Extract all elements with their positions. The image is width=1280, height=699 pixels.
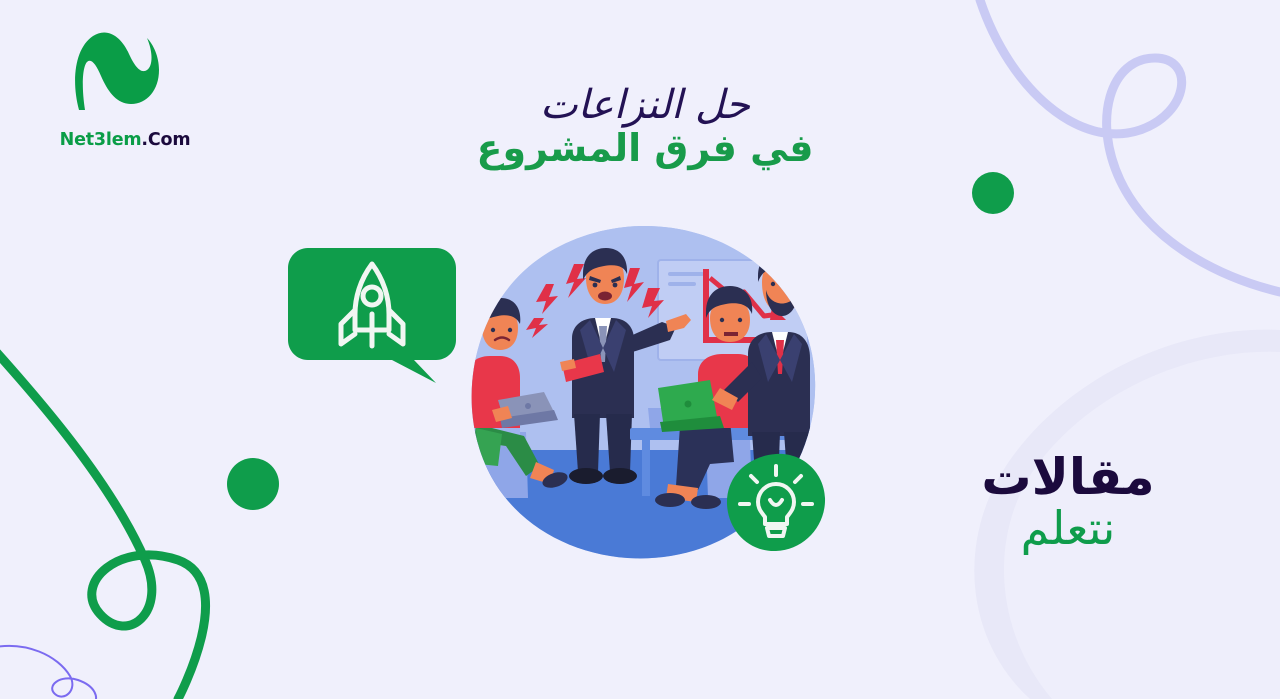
violet-thin-loop-bottom-left [0, 646, 96, 699]
whiteboard-line [668, 272, 704, 276]
headline-script-line: حل النزاعات [420, 84, 870, 126]
headline-block: حل النزاعات في فرق المشروع [420, 84, 870, 170]
green-dot-right [972, 172, 1014, 214]
lavender-loop-curve-top-right [980, 0, 1280, 292]
letter-n-swoosh-logo-icon [63, 22, 173, 114]
right-label-top: مقالات [918, 452, 1218, 502]
logo-wordmark: Net3lem.Com [45, 130, 205, 150]
logo-name-green: Net3lem [60, 130, 142, 150]
lightbulb-badge[interactable] [726, 452, 826, 552]
whiteboard-line [774, 272, 804, 276]
rocket-speech-bubble-badge[interactable] [288, 248, 456, 383]
green-dot-left [227, 458, 279, 510]
logo-name-dark: .Com [141, 130, 190, 150]
green-loop-curve-bottom-left [0, 345, 206, 699]
banner-canvas: Net3lem.Com حل النزاعات في فرق المشروع [0, 0, 1280, 699]
whiteboard-line [668, 282, 696, 286]
headline-sub-line: في فرق المشروع [420, 128, 870, 170]
site-logo[interactable]: Net3lem.Com [45, 22, 205, 147]
right-label-bottom: نتعلم [918, 504, 1218, 552]
right-label-block: مقالات نتعلم [918, 452, 1218, 552]
